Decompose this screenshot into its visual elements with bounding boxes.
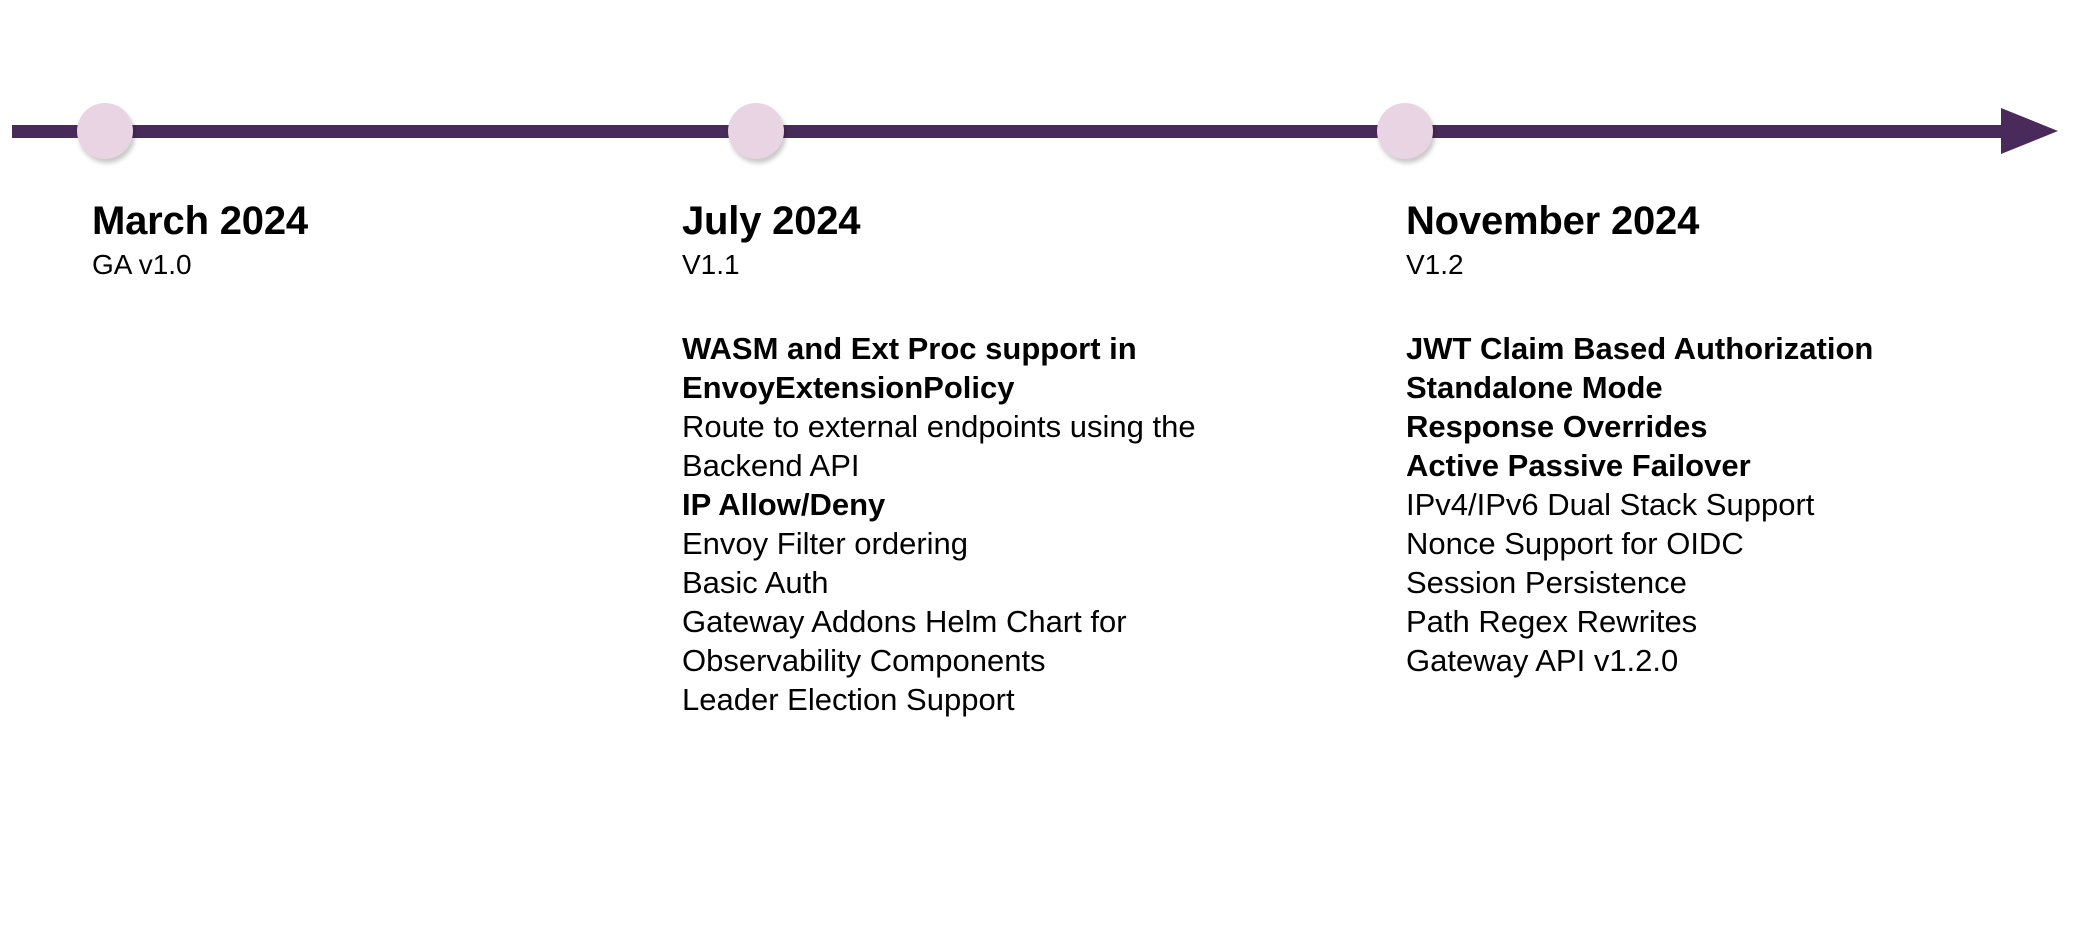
milestone-columns: March 2024 GA v1.0 July 2024 V1.1 WASM a…	[0, 200, 2097, 900]
feature-list: WASM and Ext Proc support in EnvoyExtens…	[682, 329, 1302, 719]
feature-item: Envoy Filter ordering	[682, 524, 1302, 563]
feature-item: IPv4/IPv6 Dual Stack Support	[1406, 485, 2046, 524]
feature-item: Basic Auth	[682, 563, 1302, 602]
timeline-line	[12, 125, 2007, 138]
feature-item: WASM and Ext Proc support in EnvoyExtens…	[682, 329, 1302, 407]
feature-item: Gateway Addons Helm Chart for Observabil…	[682, 602, 1302, 680]
milestone-november-2024: November 2024 V1.2 JWT Claim Based Autho…	[1406, 200, 2046, 680]
milestone-date: November 2024	[1406, 200, 2046, 242]
milestone-version: V1.2	[1406, 250, 2046, 281]
feature-item: Gateway API v1.2.0	[1406, 641, 2046, 680]
milestone-version: V1.1	[682, 250, 1302, 281]
feature-item: Session Persistence	[1406, 563, 2046, 602]
timeline-marker-march-2024	[77, 103, 133, 159]
feature-item: JWT Claim Based Authorization	[1406, 329, 2046, 368]
feature-item: Nonce Support for OIDC	[1406, 524, 2046, 563]
feature-list: JWT Claim Based AuthorizationStandalone …	[1406, 329, 2046, 680]
milestone-date: March 2024	[92, 200, 652, 242]
timeline-marker-november-2024	[1377, 103, 1433, 159]
milestone-march-2024: March 2024 GA v1.0	[92, 200, 652, 329]
timeline-marker-july-2024	[728, 103, 784, 159]
feature-item: Response Overrides	[1406, 407, 2046, 446]
feature-item: Path Regex Rewrites	[1406, 602, 2046, 641]
feature-item: Standalone Mode	[1406, 368, 2046, 407]
timeline-arrow-icon	[2001, 108, 2058, 154]
feature-item: Active Passive Failover	[1406, 446, 2046, 485]
feature-item: Leader Election Support	[682, 680, 1302, 719]
milestone-version: GA v1.0	[92, 250, 652, 281]
milestone-date: July 2024	[682, 200, 1302, 242]
milestone-july-2024: July 2024 V1.1 WASM and Ext Proc support…	[682, 200, 1302, 719]
feature-item: IP Allow/Deny	[682, 485, 1302, 524]
timeline-axis	[0, 70, 2097, 200]
feature-item: Route to external endpoints using the Ba…	[682, 407, 1302, 485]
